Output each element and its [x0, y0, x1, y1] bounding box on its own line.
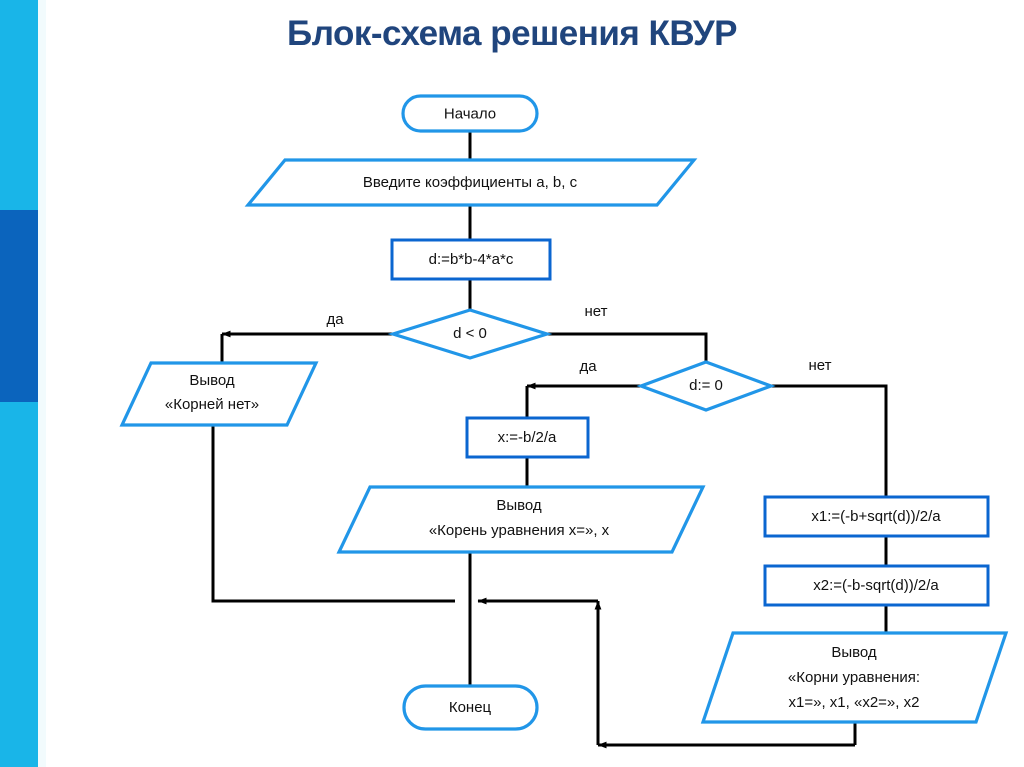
node-decision-d-less-zero-label: d < 0: [453, 325, 487, 342]
node-output-one-root[interactable]: Вывод «Корень уравнения x=», x: [339, 487, 703, 552]
connector-decision2-no: [771, 386, 886, 497]
node-calc-root-x2-label: x2:=(-b-sqrt(d))/2/a: [813, 577, 939, 594]
connector-decision1-no: [547, 334, 706, 362]
edge-label-decision1-yes: да: [326, 311, 344, 328]
edge-label-decision2-yes: да: [579, 358, 597, 375]
node-output-no-roots[interactable]: Вывод «Корней нет»: [122, 363, 316, 425]
node-decision-d-less-zero[interactable]: d < 0: [393, 310, 547, 358]
node-output-two-roots-line1: Вывод: [831, 644, 877, 661]
node-calc-root-x1[interactable]: x1:=(-b+sqrt(d))/2/a: [765, 497, 988, 536]
node-decision-d-equals-zero-label: d:= 0: [689, 377, 723, 394]
node-calc-single-root-label: x:=-b/2/a: [498, 429, 557, 446]
node-start[interactable]: Начало: [403, 96, 537, 131]
node-output-one-root-line2: «Корень уравнения x=», x: [429, 522, 610, 539]
edge-label-decision2-no: нет: [809, 357, 832, 374]
node-output-two-roots-line2: «Корни уравнения:: [788, 669, 920, 686]
node-input[interactable]: Введите коэффициенты a, b, c: [248, 160, 694, 205]
node-calc-single-root[interactable]: x:=-b/2/a: [467, 418, 588, 457]
node-input-label: Введите коэффициенты a, b, c: [363, 174, 578, 191]
node-end[interactable]: Конец: [404, 686, 537, 729]
edge-label-decision1-no: нет: [585, 303, 608, 320]
node-output-one-root-line1: Вывод: [496, 497, 542, 514]
node-calc-root-x1-label: x1:=(-b+sqrt(d))/2/a: [811, 508, 941, 525]
node-calc-root-x2[interactable]: x2:=(-b-sqrt(d))/2/a: [765, 566, 988, 605]
node-input-label-bold: a, b, c: [536, 174, 577, 191]
node-output-no-roots-line1: Вывод: [189, 372, 235, 389]
node-output-two-roots-line3: x1=», x1, «x2=», x2: [789, 694, 920, 711]
slide-canvas: Блок-схема решения КВУР: [0, 0, 1024, 767]
flowchart-diagram: Начало Введите коэффициенты a, b, c d:=b…: [0, 0, 1024, 767]
node-output-no-roots-line2: «Корней нет»: [165, 396, 259, 413]
node-decision-d-equals-zero[interactable]: d:= 0: [641, 362, 771, 410]
node-end-label: Конец: [449, 699, 492, 716]
node-calc-discriminant-label: d:=b*b-4*a*c: [429, 251, 514, 268]
node-start-label: Начало: [444, 105, 496, 122]
node-output-two-roots[interactable]: Вывод «Корни уравнения: x1=», x1, «x2=»,…: [703, 633, 1006, 722]
node-calc-discriminant[interactable]: d:=b*b-4*a*c: [392, 240, 550, 279]
node-input-label-text: Введите коэффициенты: [363, 174, 536, 191]
